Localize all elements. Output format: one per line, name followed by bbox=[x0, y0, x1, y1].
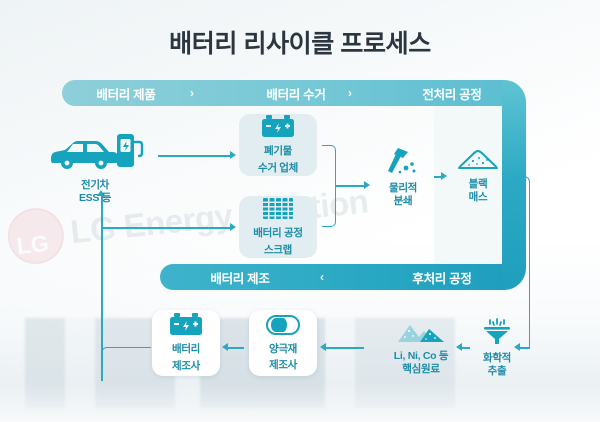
lg-logo-mark bbox=[5, 205, 67, 267]
connector-cathode-to-battery bbox=[228, 347, 244, 349]
node-electric-vehicle: 전기차 ESS 등 bbox=[36, 130, 154, 205]
process-bar-top: 배터리 제품 › 배터리 수거 › 전처리 공정 bbox=[62, 80, 502, 106]
stage-battery-manufacturing: 배터리 제조 bbox=[160, 268, 320, 287]
arrow-right-icon bbox=[230, 223, 236, 231]
node-battery-manufacturer: 배터리 제조사 bbox=[152, 310, 220, 376]
funnel-icon bbox=[468, 318, 526, 350]
powder-pile-icon bbox=[448, 146, 508, 176]
arrow-right-icon bbox=[364, 181, 370, 189]
node-ev-label-2: ESS 등 bbox=[36, 192, 154, 205]
connector-battery-to-ev bbox=[101, 347, 151, 381]
arrow-right-icon bbox=[441, 172, 447, 180]
node-waste-label-2: 수거 업체 bbox=[258, 162, 298, 175]
node-waste-label-1: 폐기물 bbox=[264, 145, 292, 158]
node-physical-crushing: 물리적 분쇄 bbox=[372, 146, 434, 208]
node-waste-collector: 폐기물 수거 업체 bbox=[239, 114, 317, 176]
node-chemical-extraction: 화학적 추출 bbox=[468, 318, 526, 378]
connector-merge-to-crush bbox=[336, 185, 364, 187]
process-bar-bottom: 배터리 제조 ‹ 후처리 공정 bbox=[160, 264, 502, 290]
node-crush-label-2: 분쇄 bbox=[372, 195, 434, 208]
battery-icon bbox=[169, 313, 203, 340]
page-title: 배터리 리사이클 프로세스 bbox=[0, 24, 600, 60]
connector-ev-to-waste bbox=[158, 155, 230, 157]
electrode-sheet-icon bbox=[263, 197, 293, 224]
node-raw-materials: Li, Ni, Co 등 핵심원료 bbox=[366, 318, 476, 376]
arrow-left-icon bbox=[222, 343, 228, 351]
node-raw-label-1: Li, Ni, Co 등 bbox=[366, 350, 476, 363]
stage-posttreatment: 후처리 공정 bbox=[382, 268, 502, 287]
stage-battery-product: 배터리 제품 bbox=[62, 84, 190, 103]
node-process-scrap: 배터리 공정 스크랩 bbox=[239, 196, 317, 258]
connector-to-scrap bbox=[101, 227, 230, 229]
chevron-right-icon: › bbox=[348, 86, 402, 100]
node-black-label-1: 블랙 bbox=[448, 178, 508, 191]
node-chem-label-1: 화학적 bbox=[468, 352, 526, 365]
node-scrap-label-2: 스크랩 bbox=[264, 244, 292, 257]
electric-car-charging-icon bbox=[36, 130, 154, 176]
stage-pretreatment: 전처리 공정 bbox=[402, 84, 502, 103]
arrow-right-icon bbox=[230, 151, 236, 159]
node-crush-label-1: 물리적 bbox=[372, 182, 434, 195]
chevron-left-icon: ‹ bbox=[320, 270, 382, 284]
node-ev-label-1: 전기차 bbox=[36, 179, 154, 192]
node-scrap-label-1: 배터리 공정 bbox=[253, 227, 302, 240]
node-batmaker-label-1: 배터리 bbox=[172, 343, 200, 356]
node-cam-label-1: 양극재 bbox=[269, 343, 297, 356]
node-cathode-manufacturer: 양극재 제조사 bbox=[249, 310, 317, 376]
chevron-right-icon: › bbox=[190, 86, 244, 100]
hammer-icon bbox=[372, 146, 434, 180]
connector-merge-bracket bbox=[322, 145, 336, 227]
node-black-mass: 블랙 매스 bbox=[448, 146, 508, 204]
node-chem-label-2: 추출 bbox=[468, 365, 526, 378]
arrow-left-icon bbox=[320, 343, 326, 351]
node-batmaker-label-2: 제조사 bbox=[172, 360, 200, 373]
stage-battery-collection: 배터리 수거 bbox=[244, 84, 348, 103]
battery-icon bbox=[261, 115, 295, 142]
node-raw-label-2: 핵심원료 bbox=[366, 363, 476, 376]
node-cam-label-2: 제조사 bbox=[269, 359, 297, 372]
cylindrical-cell-icon bbox=[264, 314, 302, 340]
mineral-mountain-icon bbox=[366, 318, 476, 348]
node-black-label-2: 매스 bbox=[448, 191, 508, 204]
connector-raw-to-cathode bbox=[326, 347, 364, 349]
